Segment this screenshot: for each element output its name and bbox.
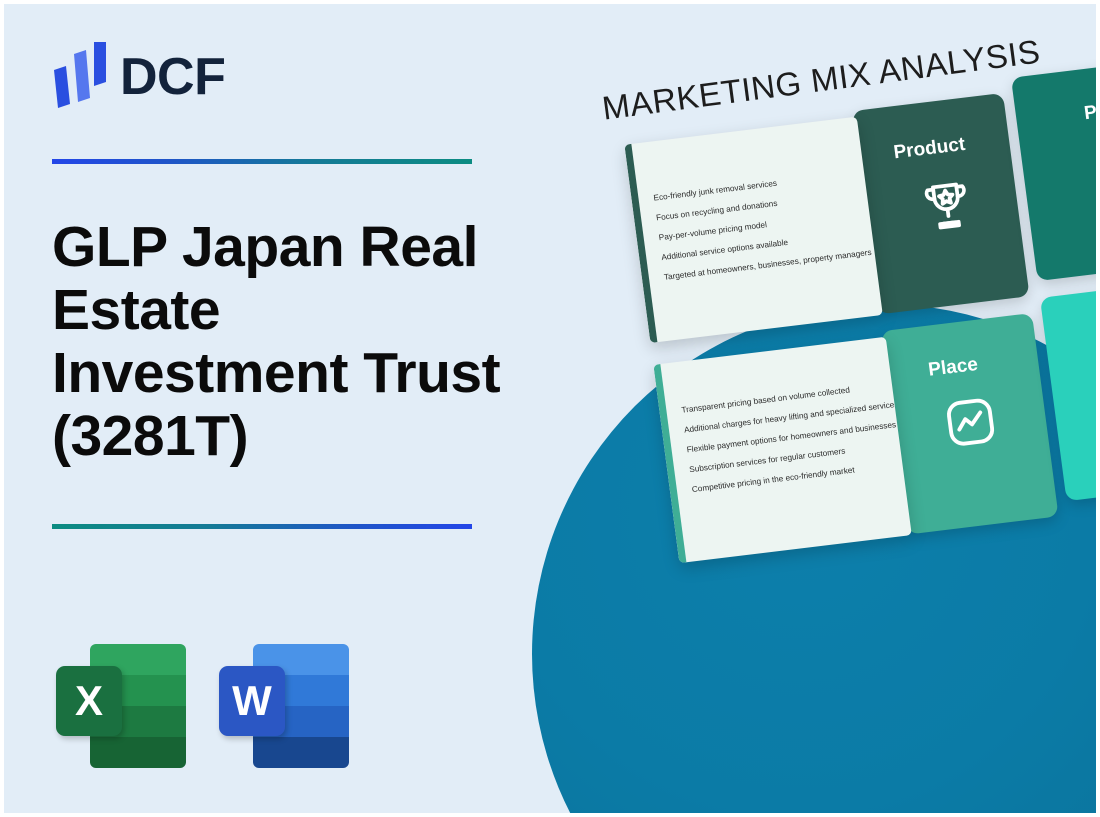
card-product: Eco-friendly junk removal services Focus…	[624, 117, 882, 343]
brand-logo[interactable]: DCF	[52, 42, 282, 112]
divider-top	[52, 159, 472, 164]
excel-file-icon[interactable]: X	[56, 638, 186, 768]
quadrant-board: Product Price Place	[612, 38, 1100, 628]
activity-pulse-icon	[938, 390, 1003, 454]
card-product-edge	[624, 144, 657, 343]
trophy-icon	[915, 173, 978, 235]
left-panel: DCF GLP Japan Real Estate Investment Tru…	[4, 4, 544, 817]
card-place: Transparent pricing based on volume coll…	[653, 337, 911, 563]
slide-canvas: DCF GLP Japan Real Estate Investment Tru…	[0, 0, 1100, 817]
card-product-bullets: Eco-friendly junk removal services Focus…	[653, 154, 883, 293]
quadrant-product-label: Product	[892, 134, 966, 164]
quadrant-product[interactable]: Product	[852, 93, 1030, 315]
quadrant-place-label: Place	[927, 354, 979, 382]
quadrant-price[interactable]: Price	[1011, 54, 1100, 281]
quadrant-price-label: Price	[1083, 98, 1100, 125]
bar-chart-logo-icon	[52, 42, 114, 110]
word-letter-tile: W	[219, 666, 285, 736]
word-file-icon[interactable]: W	[219, 638, 349, 768]
quadrant-place[interactable]: Place	[881, 313, 1059, 535]
divider-bottom	[52, 524, 472, 529]
excel-letter-tile: X	[56, 666, 122, 736]
brand-name: DCF	[120, 48, 225, 106]
download-icons: X W	[56, 638, 349, 768]
link-chain-icon	[1082, 137, 1100, 199]
card-place-bullets: Transparent pricing based on volume coll…	[681, 366, 912, 505]
marketing-mix-graphic: MARKETING MIX ANALYSIS Product Price	[504, 4, 1100, 817]
page-title: GLP Japan Real Estate Investment Trust (…	[52, 216, 522, 468]
